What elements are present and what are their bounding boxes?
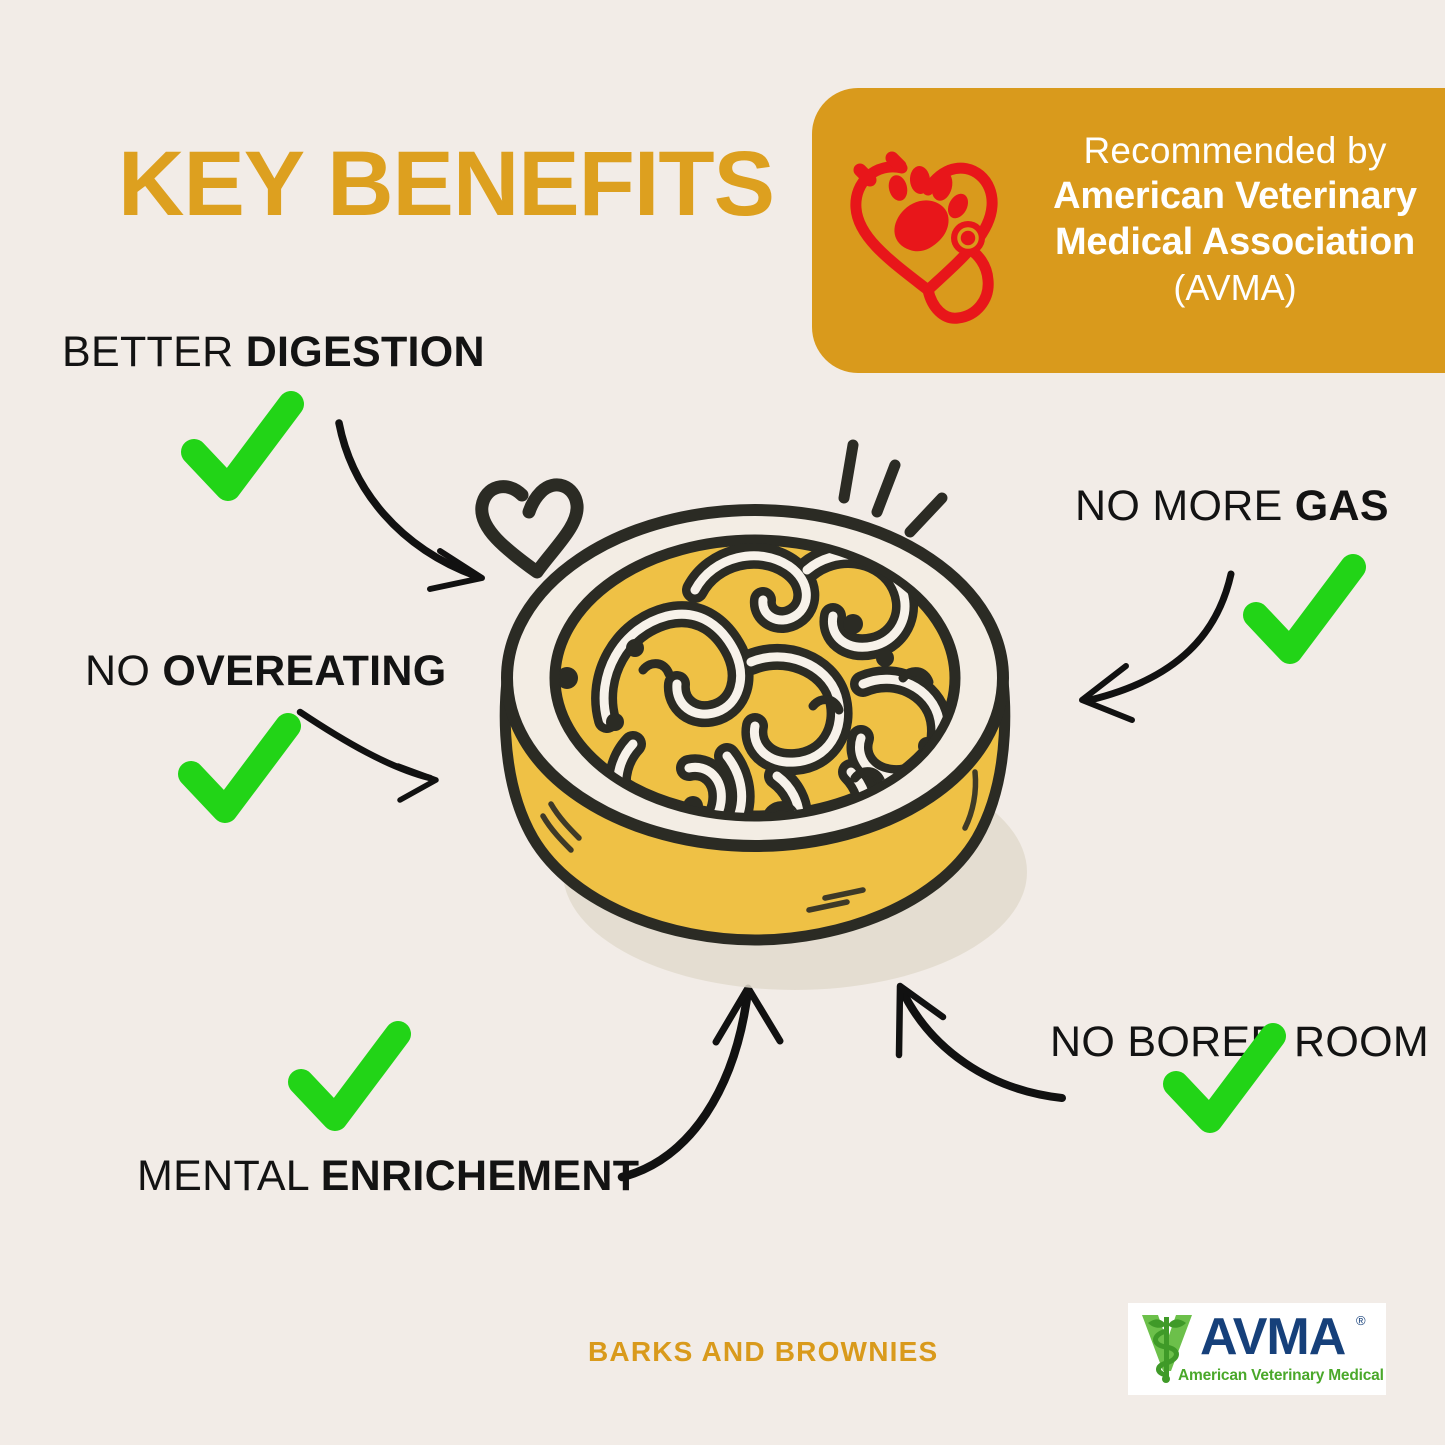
benefit-emphasis-digestion: DIGESTION bbox=[246, 328, 485, 376]
avma-wordmark: AVMA bbox=[1200, 1311, 1345, 1363]
heart-stethoscope-paw-icon bbox=[840, 140, 1030, 330]
benefit-label-overeating: NO OVEREATING bbox=[85, 647, 446, 696]
benefit-label-gas: NO MORE GAS bbox=[1075, 482, 1389, 531]
benefit-prefix-digestion: BETTER bbox=[62, 328, 246, 376]
green-check-icon-digestion bbox=[178, 390, 308, 510]
badge-line-recommended: Recommended by bbox=[1044, 128, 1426, 173]
green-check-icon-overeating bbox=[175, 712, 305, 832]
page-title: KEY BENEFITS bbox=[118, 138, 774, 230]
arrow-overeating bbox=[300, 712, 436, 800]
green-check-icon-bored-room bbox=[1160, 1022, 1290, 1142]
heart-doodle bbox=[482, 485, 577, 572]
avma-logo: AVMA ® American Veterinary Medical Assoc… bbox=[1128, 1303, 1386, 1395]
badge-line-medical-association: Medical Association bbox=[1044, 219, 1426, 265]
benefit-label-digestion: BETTER DIGESTION bbox=[62, 328, 485, 377]
benefit-prefix-enrichment: MENTAL bbox=[137, 1152, 321, 1200]
benefit-emphasis-gas: GAS bbox=[1295, 482, 1389, 530]
avma-recommendation-badge: Recommended by American Veterinary Medic… bbox=[812, 88, 1445, 373]
arrow-gas bbox=[1082, 574, 1231, 720]
badge-line-american-veterinary: American Veterinary bbox=[1044, 173, 1426, 219]
badge-text-block: Recommended by American Veterinary Medic… bbox=[1044, 128, 1426, 310]
slow-feeder-dog-bowl-illustration bbox=[455, 420, 1075, 1020]
infographic-canvas: KEY BENEFITS R bbox=[0, 0, 1445, 1445]
brand-footer-text: BARKS AND BROWNIES bbox=[588, 1336, 938, 1368]
benefit-emphasis-enrichment: ENRICHEMENT bbox=[321, 1152, 640, 1200]
green-check-icon-enrichment bbox=[285, 1020, 415, 1140]
benefit-label-enrichment: MENTAL ENRICHEMENT bbox=[137, 1152, 639, 1201]
sparkle-lines bbox=[844, 445, 942, 532]
registered-trademark-icon: ® bbox=[1356, 1313, 1366, 1328]
benefit-emphasis-overeating: OVEREATING bbox=[162, 647, 446, 695]
green-check-icon-gas bbox=[1240, 553, 1370, 673]
benefit-prefix-overeating: NO bbox=[85, 647, 162, 695]
avma-tagline: American Veterinary Medical Association bbox=[1178, 1367, 1386, 1385]
benefit-prefix-gas: NO MORE bbox=[1075, 482, 1295, 530]
badge-line-avma-abbrev: (AVMA) bbox=[1044, 266, 1426, 310]
